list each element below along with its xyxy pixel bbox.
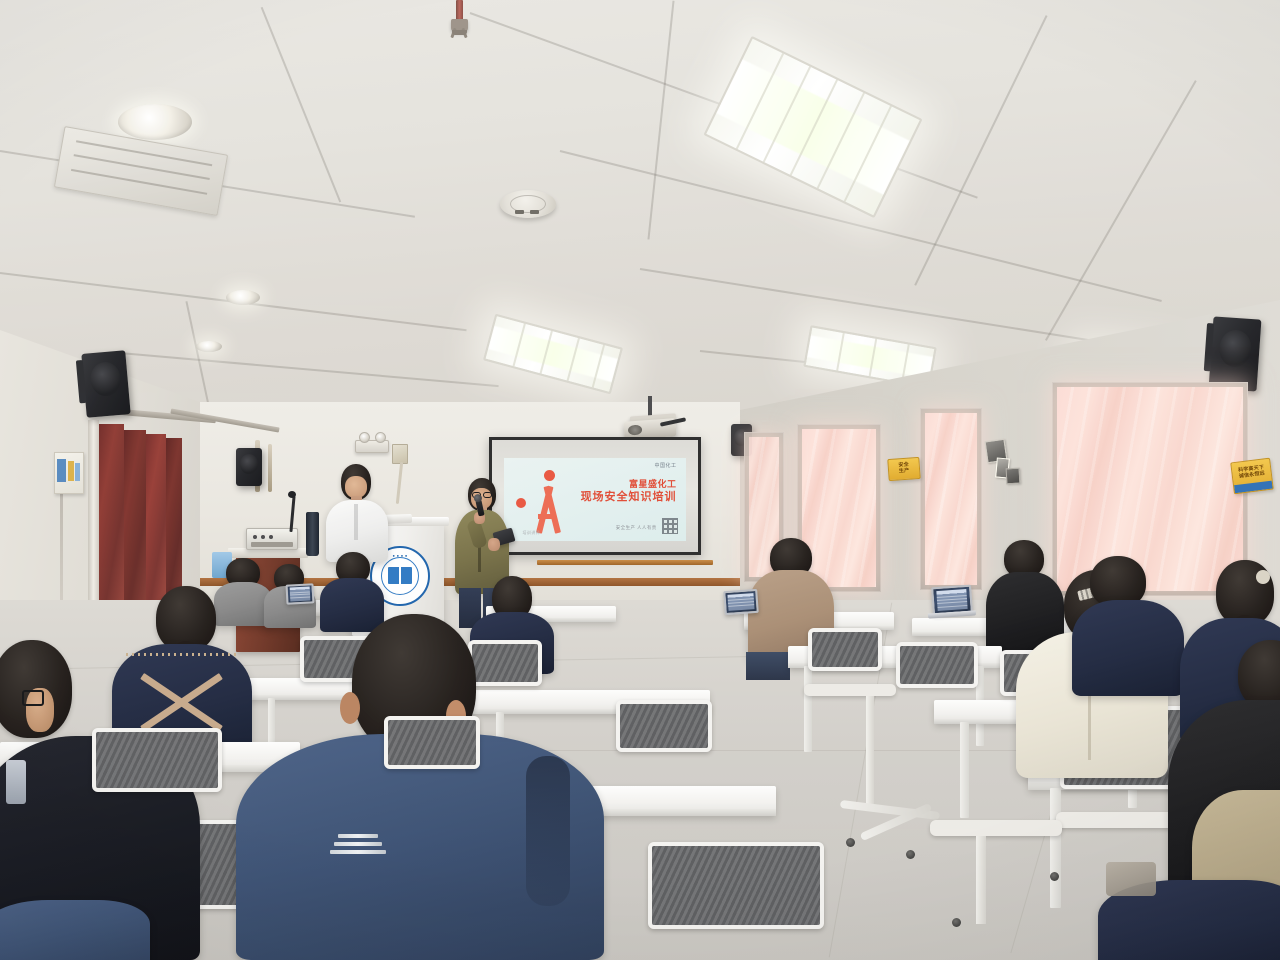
slide-organization: 中国化工	[655, 462, 677, 469]
chair[interactable]	[616, 700, 712, 770]
ceiling-grid-line	[120, 352, 499, 387]
whiteboard-trim	[537, 560, 713, 565]
thermos-bottle	[306, 512, 319, 556]
slide-title: 富星盛化工 现场安全知识培训	[581, 479, 677, 504]
door-handle[interactable]	[268, 444, 272, 492]
wall-poster-left	[54, 452, 84, 494]
chair[interactable]	[648, 842, 824, 960]
attendee-torso	[1072, 600, 1184, 696]
ceiling-downlight	[226, 290, 260, 305]
training-room-photo: 中国化工 富星盛化工 现场安全知识培训 安全生产 人人有责 培训讲师 安全 生产	[0, 0, 1280, 960]
smoke-detector-icon	[500, 190, 556, 218]
qr-code-icon	[662, 518, 678, 534]
ear	[340, 692, 360, 724]
sprinkler-deflector	[452, 30, 467, 35]
wall-photo	[1006, 468, 1021, 485]
microphone-capsule-icon	[288, 491, 296, 498]
chair[interactable]	[92, 728, 222, 814]
slide-subtitle: 安全生产 人人有责	[616, 525, 657, 531]
chair-seat[interactable]	[1056, 812, 1176, 828]
laptop-screen	[285, 583, 314, 604]
hair-tie	[1256, 570, 1270, 584]
shirt-collar	[6, 760, 26, 804]
presenter-podium-face	[345, 476, 367, 498]
chair-column	[866, 696, 874, 808]
shirt-placket	[354, 504, 358, 540]
glasses-icon	[483, 492, 492, 498]
floor-bag	[1106, 862, 1156, 896]
wall-sign-mid: 安全 生产	[887, 457, 920, 481]
presenter-mic-hand-2	[488, 538, 500, 551]
vest-x-pattern	[134, 675, 229, 736]
glasses-icon	[22, 690, 44, 706]
chair[interactable]	[896, 642, 978, 704]
chair-seat[interactable]	[804, 684, 896, 696]
attendee-torso	[320, 578, 384, 632]
slide-title-line2: 现场安全知识培训	[581, 491, 677, 505]
chair[interactable]	[468, 640, 542, 702]
ceiling-downlight	[118, 104, 192, 140]
projection-screen: 中国化工 富星盛化工 现场安全知识培训 安全生产 人人有责 培训讲师	[489, 437, 701, 555]
ceiling-light-troffer	[483, 314, 623, 395]
wall-sign-right: 科学高天下 诚信永恒远	[1230, 458, 1274, 495]
ceiling-grid-line	[261, 7, 342, 202]
emergency-exit-light	[355, 440, 389, 453]
chair-caster	[906, 850, 915, 859]
attendee-torso	[0, 900, 150, 960]
ceiling-grid-line	[1045, 80, 1197, 341]
ceiling-grid-line	[914, 15, 1047, 286]
ceiling-grid-line	[647, 1, 674, 240]
chair-column	[976, 836, 986, 924]
jacket-reflective-logo	[330, 834, 386, 858]
ceiling-air-diffuser	[54, 126, 228, 216]
chair-caster	[1050, 872, 1059, 881]
ceiling-downlight	[196, 341, 222, 352]
laptop-screen	[723, 589, 759, 615]
chair-caster	[846, 838, 855, 847]
wall-socket-panel	[392, 444, 408, 464]
chair-caster	[952, 918, 961, 927]
speaker-icon	[81, 350, 130, 418]
speaker-icon	[236, 448, 262, 486]
slide-title-line1: 富星盛化工	[581, 479, 677, 490]
jacket-shoulder-shadow	[526, 756, 570, 906]
speaker-icon	[1209, 316, 1262, 391]
attendee-legs	[746, 652, 790, 680]
projection-screen-surface: 中国化工 富星盛化工 现场安全知识培训 安全生产 人人有责 培训讲师	[492, 440, 698, 552]
slide-logo-letter-a	[524, 471, 578, 532]
desk-leg	[960, 722, 969, 818]
slide-footer: 培训讲师	[522, 530, 540, 536]
chair[interactable]	[384, 716, 480, 788]
wall-sign-mid-line2: 生产	[899, 468, 910, 475]
presentation-slide: 中国化工 富星盛化工 现场安全知识培训 安全生产 人人有责 培训讲师	[504, 458, 685, 541]
chair[interactable]	[808, 628, 882, 686]
window-blind-right	[1052, 382, 1248, 596]
window-blind-mid	[920, 408, 982, 590]
ceiling-light-troffer	[704, 36, 923, 218]
attendee-head	[156, 586, 216, 652]
chair-seat[interactable]	[930, 820, 1062, 836]
